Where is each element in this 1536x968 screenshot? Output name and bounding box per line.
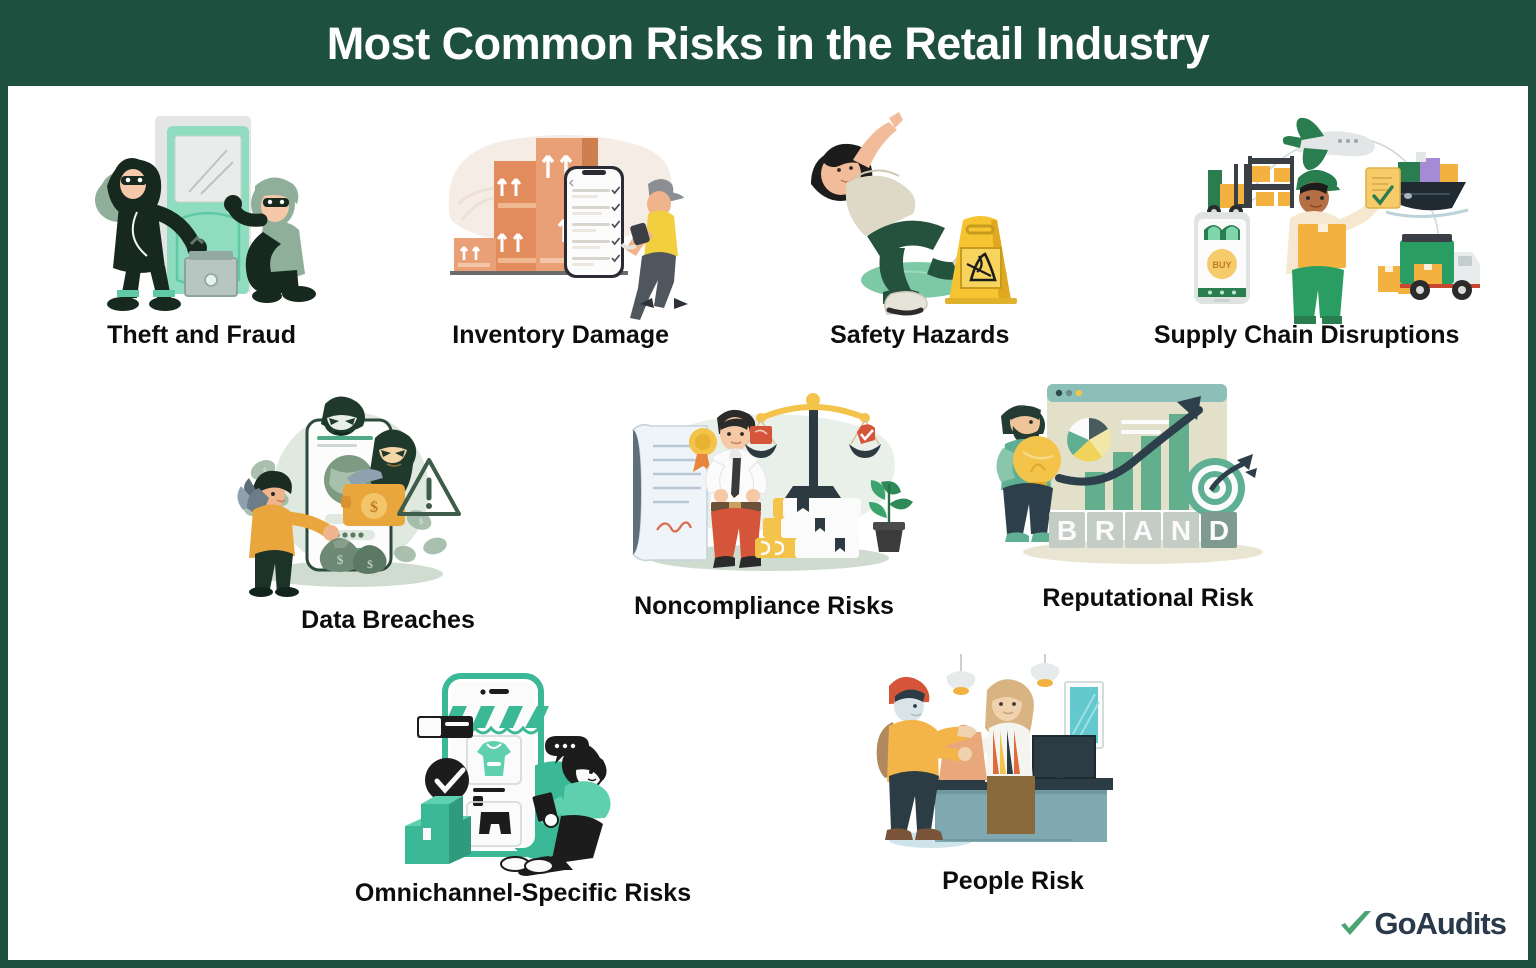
risk-item-safety-hazards: Safety Hazards — [795, 108, 1045, 350]
mobile-storefront-shopper-icon — [383, 666, 663, 866]
risk-row-2: $ $ — [8, 386, 1528, 625]
risk-item-reputational-risk: B R A N D Reputational Risk — [963, 374, 1333, 613]
svg-text:A: A — [1133, 515, 1153, 546]
risk-item-theft-and-fraud: Theft and Fraud — [77, 108, 327, 350]
infographic-poster: Most Common Risks in the Retail Industry — [0, 0, 1536, 968]
retail-checkout-counter-icon — [873, 654, 1153, 854]
plane-ship-truck-logistics-icon: BUY — [1182, 108, 1432, 308]
risk-item-noncompliance-risks: Noncompliance Risks — [579, 382, 949, 621]
risk-item-inventory-damage: Inventory Damage — [436, 108, 686, 350]
risk-label: Reputational Risk — [1042, 585, 1253, 613]
buy-button-label: BUY — [1212, 260, 1231, 270]
risk-label: Data Breaches — [301, 607, 475, 635]
check-mark-icon — [1339, 909, 1373, 939]
risk-label: Safety Hazards — [830, 322, 1009, 350]
svg-text:$: $ — [337, 552, 344, 567]
risk-label: Noncompliance Risks — [634, 593, 894, 621]
svg-text:$: $ — [370, 499, 378, 516]
stacked-boxes-phone-checklist-icon — [436, 108, 686, 308]
burglars-door-safe-icon — [77, 108, 327, 308]
svg-text:$: $ — [367, 557, 373, 571]
risk-item-people-risk: People Risk — [803, 654, 1223, 896]
hackers-phone-money-bags-icon: $ $ — [233, 396, 543, 591]
risk-row-1: Theft and Fraud — [8, 108, 1528, 350]
svg-text:D: D — [1209, 515, 1229, 546]
risk-label: People Risk — [942, 868, 1084, 896]
svg-text:R: R — [1095, 515, 1115, 546]
svg-text:$: $ — [419, 517, 423, 526]
brand-blocks-growth-chart-icon: B R A N D — [993, 374, 1303, 569]
svg-text:B: B — [1057, 515, 1077, 546]
risk-label: Theft and Fraud — [107, 322, 296, 350]
logo-wordmark: GoAudits — [1375, 906, 1507, 942]
risk-item-omnichannel-specific-risks: Omnichannel-Specific Risks — [313, 666, 733, 908]
person-slipping-wet-floor-sign-icon — [795, 108, 1045, 308]
legal-scales-document-books-icon — [609, 382, 919, 577]
infographic-canvas: Theft and Fraud — [8, 86, 1528, 960]
risk-label: Omnichannel-Specific Risks — [355, 880, 691, 908]
poster-header: Most Common Risks in the Retail Industry — [0, 0, 1536, 86]
risk-row-3: Omnichannel-Specific Risks — [8, 666, 1528, 908]
risk-item-supply-chain-disruptions: BUY — [1154, 108, 1460, 350]
svg-text:N: N — [1171, 515, 1191, 546]
risk-item-data-breaches: $ $ — [203, 396, 573, 635]
page-title: Most Common Risks in the Retail Industry — [327, 21, 1210, 66]
risk-label: Supply Chain Disruptions — [1154, 322, 1460, 350]
goaudits-logo[interactable]: GoAudits — [1339, 906, 1507, 942]
risk-label: Inventory Damage — [452, 322, 669, 350]
